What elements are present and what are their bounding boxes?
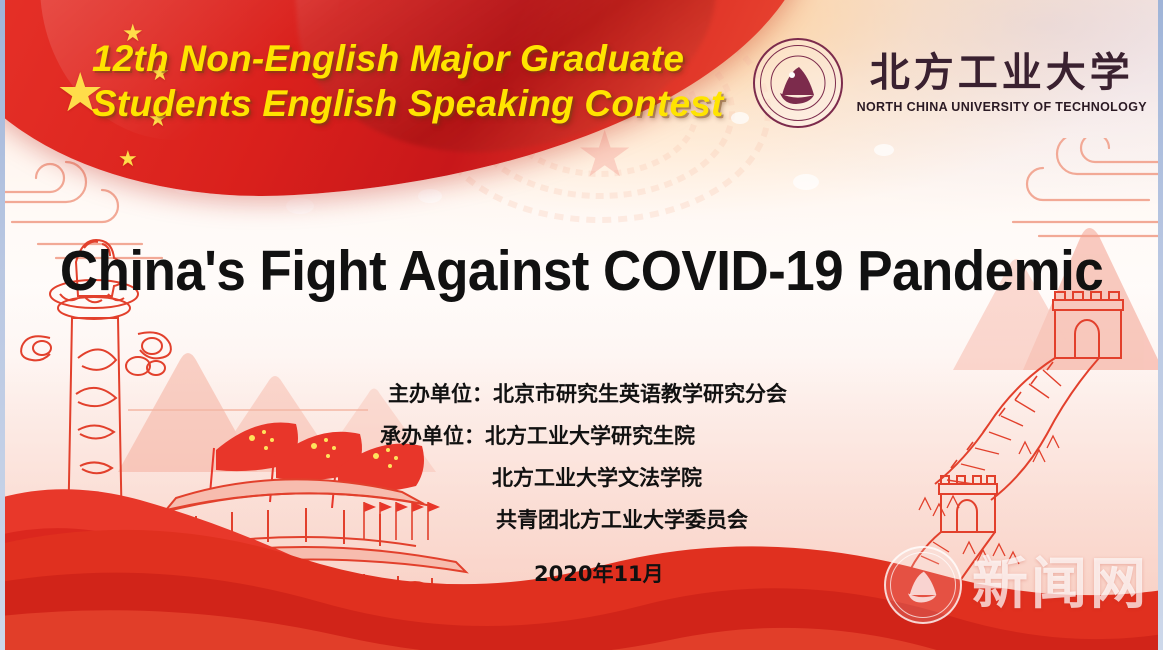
organizer-row: 北方工业大学文法学院 [0, 456, 1163, 498]
flag-star-small-4: ★ [118, 148, 138, 170]
news-watermark-text: 新闻网 [972, 557, 1149, 613]
news-watermark: 新闻网 [884, 546, 1149, 624]
organizer-line-3: 北方工业大学文法学院 [492, 462, 702, 492]
university-name-en: NORTH CHINA UNIVERSITY OF TECHNOLOGY [857, 100, 1147, 114]
contest-header-title: 12th Non-English Major Graduate Students… [92, 36, 812, 126]
news-seal-motif-icon [898, 560, 948, 610]
organizer-list: 主办单位：北京市研究生英语教学研究分会 承办单位：北方工业大学研究生院 北方工业… [0, 372, 1163, 540]
organizer-row: 承办单位：北方工业大学研究生院 [0, 414, 1163, 456]
organizer-line-4: 共青团北方工业大学委员会 [496, 504, 748, 534]
news-seal-icon [884, 546, 962, 624]
organizer-line-1: 主办单位：北京市研究生英语教学研究分会 [388, 378, 787, 408]
university-logo: 北方工业大学 NORTH CHINA UNIVERSITY OF TECHNOL… [753, 38, 1147, 128]
page-title: China's Fight Against COVID-19 Pandemic [41, 238, 1123, 304]
contest-header-line2: Students English Speaking Contest [92, 81, 812, 126]
seal-motif-icon [768, 53, 828, 113]
university-name-cn: 北方工业大学 [870, 53, 1134, 93]
university-seal-icon [753, 38, 843, 128]
poster-canvas: 中华人民共和国万岁 世界人民大团结万岁 [0, 0, 1163, 650]
frame-edge-left [0, 0, 5, 650]
organizer-line-2: 承办单位：北方工业大学研究生院 [380, 420, 695, 450]
organizer-row: 共青团北方工业大学委员会 [0, 498, 1163, 540]
frame-edge-right [1158, 0, 1163, 650]
organizer-row: 主办单位：北京市研究生英语教学研究分会 [0, 372, 1163, 414]
contest-header-line1: 12th Non-English Major Graduate [92, 38, 684, 79]
